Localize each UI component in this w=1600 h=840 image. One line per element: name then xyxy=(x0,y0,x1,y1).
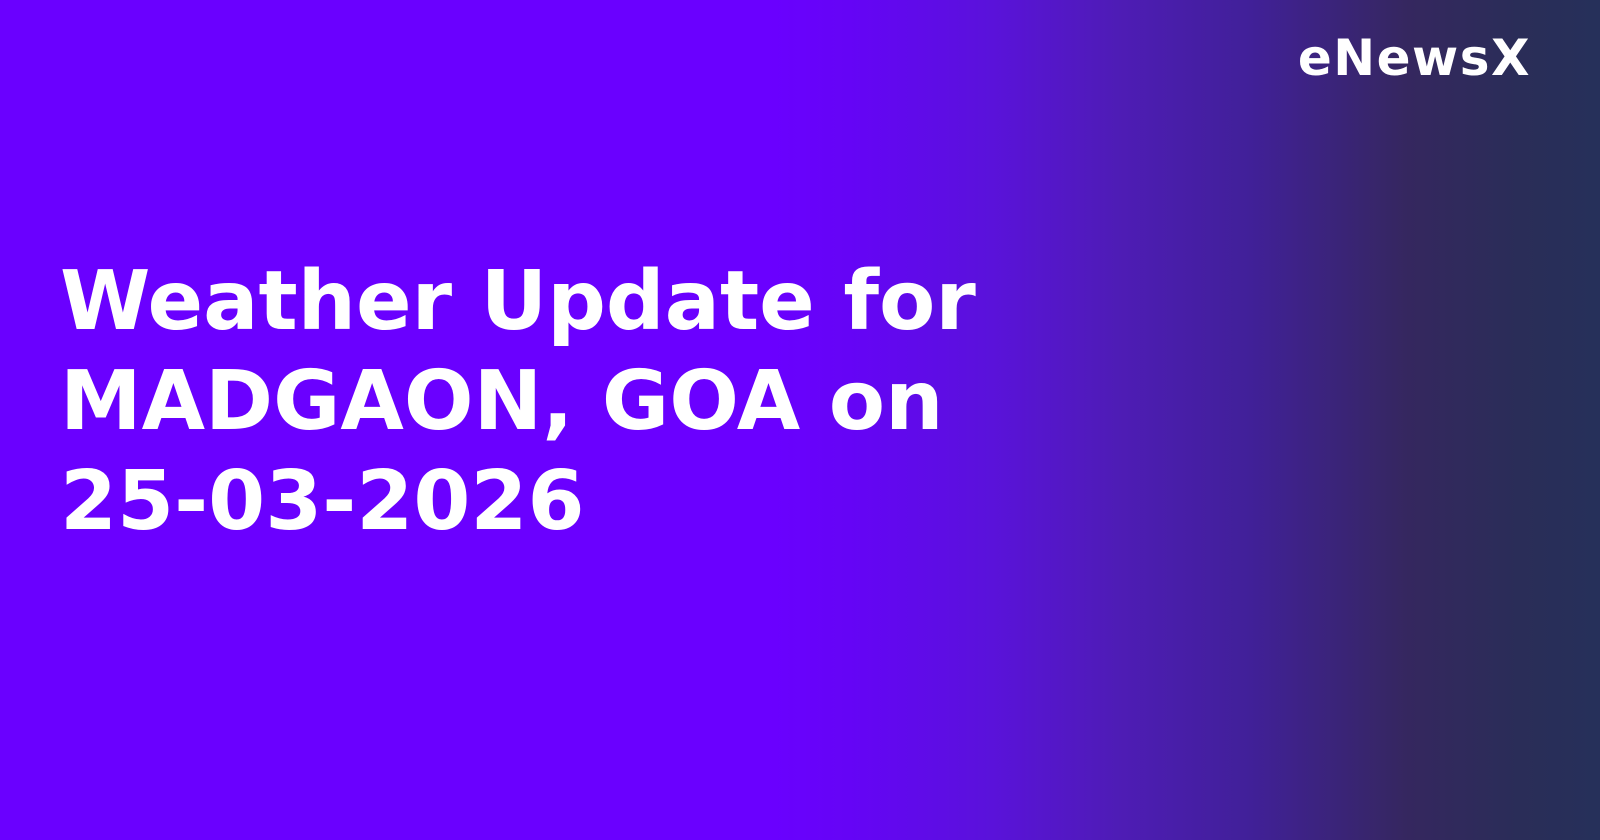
brand-name: eNewsX xyxy=(1298,32,1531,85)
brand-logo: eNewsX xyxy=(1298,32,1531,85)
headline-line-2: MADGAON, GOA on xyxy=(60,352,976,452)
page-title: Weather Update for MADGAON, GOA on 25-03… xyxy=(60,252,976,552)
headline-line-3: 25-03-2026 xyxy=(60,452,976,552)
news-card: eNewsX Weather Update for MADGAON, GOA o… xyxy=(0,0,1600,840)
headline-line-1: Weather Update for xyxy=(60,252,976,352)
headline-container: Weather Update for MADGAON, GOA on 25-03… xyxy=(60,0,1100,840)
